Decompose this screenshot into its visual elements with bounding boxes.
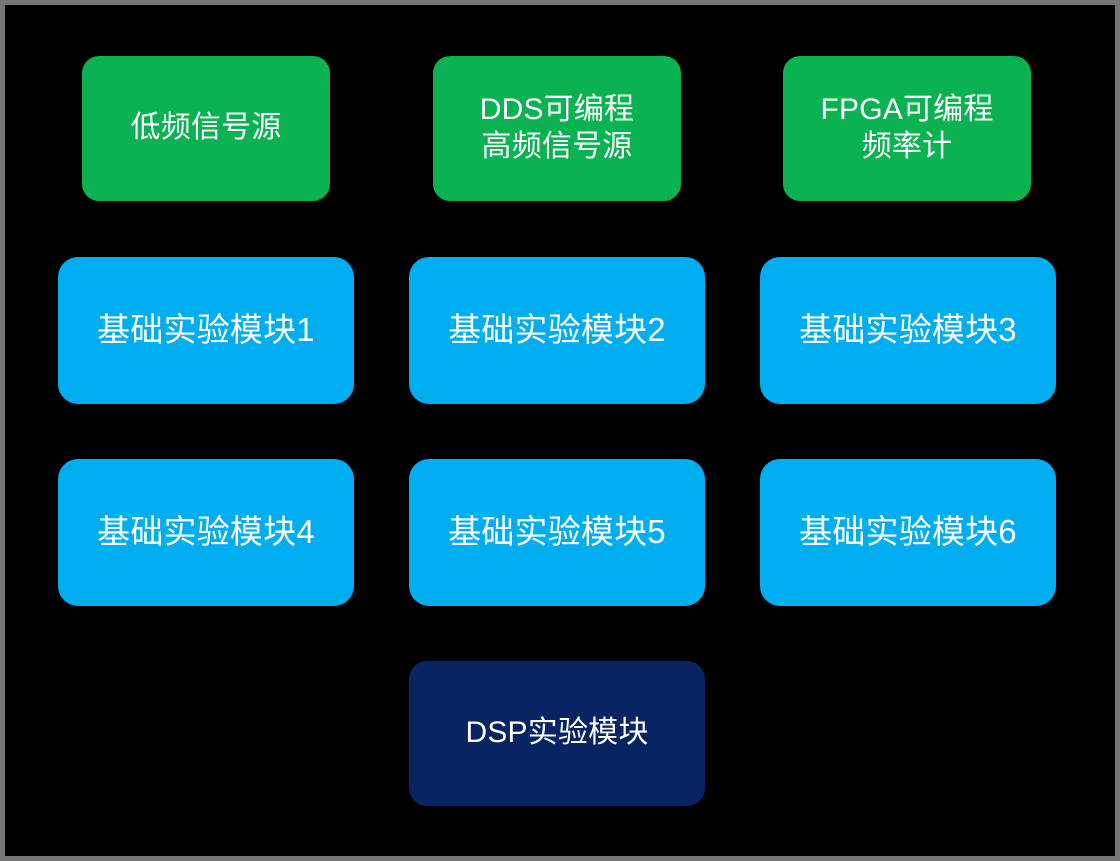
node-label: 基础实验模块2 bbox=[409, 310, 705, 350]
node-label: 基础实验模块4 bbox=[58, 512, 354, 552]
node-label: 基础实验模块5 bbox=[409, 512, 705, 552]
node-label: 低频信号源 bbox=[82, 110, 330, 147]
node-label: 基础实验模块6 bbox=[760, 512, 1056, 552]
node-label: 基础实验模块1 bbox=[58, 310, 354, 350]
node-fpga-freq-meter[interactable]: FPGA可编程 频率计 bbox=[783, 56, 1031, 201]
node-basic-module-2[interactable]: 基础实验模块2 bbox=[409, 257, 705, 404]
node-label: 基础实验模块3 bbox=[760, 310, 1056, 350]
node-basic-module-1[interactable]: 基础实验模块1 bbox=[58, 257, 354, 404]
node-basic-module-5[interactable]: 基础实验模块5 bbox=[409, 459, 705, 606]
node-dds-hf-source[interactable]: DDS可编程 高频信号源 bbox=[433, 56, 681, 201]
node-label: DSP实验模块 bbox=[409, 715, 705, 752]
node-label: DDS可编程 高频信号源 bbox=[433, 92, 681, 165]
node-low-freq-source[interactable]: 低频信号源 bbox=[82, 56, 330, 201]
node-dsp-module[interactable]: DSP实验模块 bbox=[409, 661, 705, 806]
node-label: FPGA可编程 频率计 bbox=[783, 92, 1031, 165]
node-basic-module-4[interactable]: 基础实验模块4 bbox=[58, 459, 354, 606]
node-basic-module-6[interactable]: 基础实验模块6 bbox=[760, 459, 1056, 606]
node-basic-module-3[interactable]: 基础实验模块3 bbox=[760, 257, 1056, 404]
diagram-canvas: 低频信号源 DDS可编程 高频信号源 FPGA可编程 频率计 基础实验模块1 基… bbox=[0, 0, 1120, 861]
